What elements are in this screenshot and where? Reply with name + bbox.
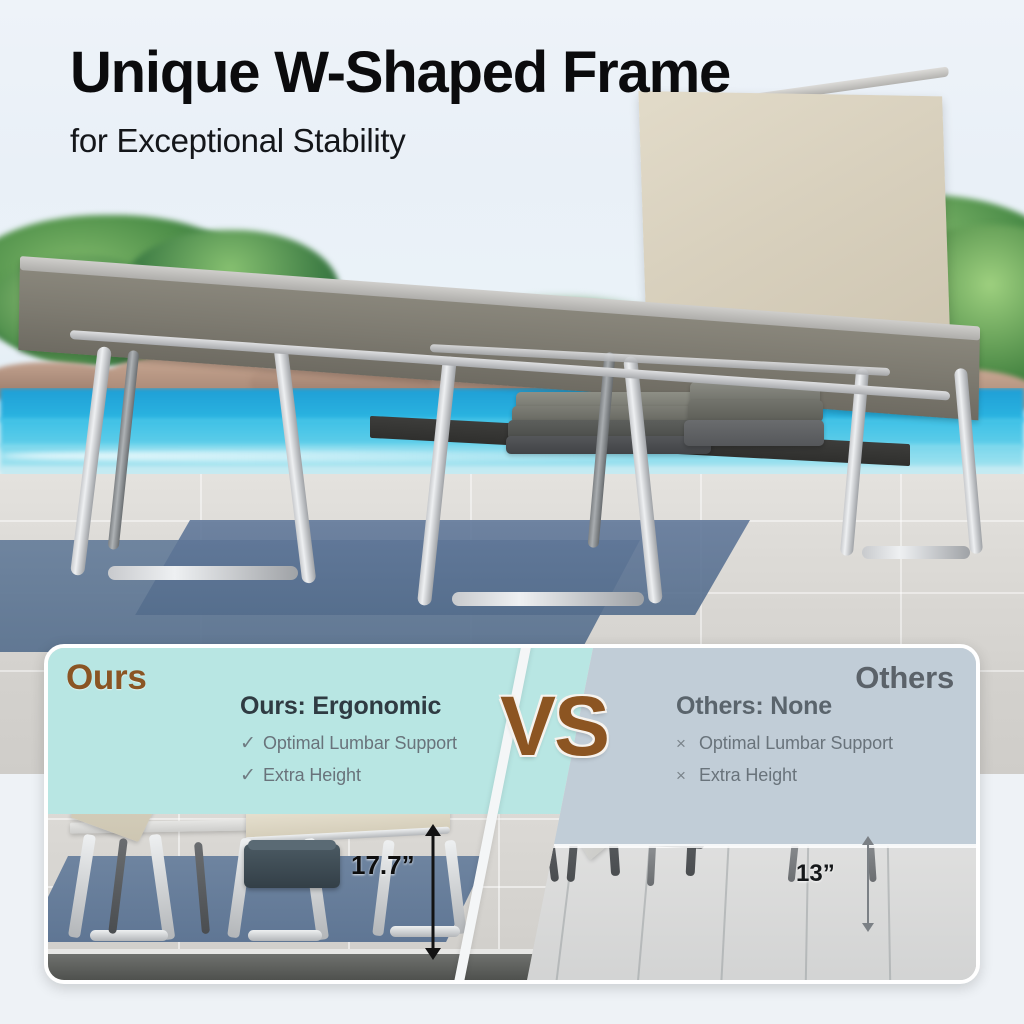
folded-towel xyxy=(688,400,823,422)
headline-block: Unique W-Shaped Frame for Exceptional St… xyxy=(70,44,730,160)
frame-foot xyxy=(862,546,970,559)
ours-height-measure: 17.7” xyxy=(403,824,463,960)
ours-feature-label: Optimal Lumbar Support xyxy=(263,733,457,754)
others-feature-label: Optimal Lumbar Support xyxy=(699,733,893,754)
frame-leg xyxy=(417,356,457,606)
ours-feature-item: ✓ Extra Height xyxy=(240,765,520,786)
comparison-panel: 13” xyxy=(44,644,980,984)
ours-feature-block: Ours: Ergonomic ✓ Optimal Lumbar Support… xyxy=(240,692,520,797)
ours-tag: Ours xyxy=(66,658,147,698)
frame-leg-rear xyxy=(108,350,140,550)
frame-foot xyxy=(108,566,298,580)
others-height-value: 13” xyxy=(796,860,835,888)
ours-height-value: 17.7” xyxy=(351,850,415,881)
storage-bag xyxy=(244,844,340,888)
check-icon: ✓ xyxy=(240,734,254,753)
frame-leg xyxy=(70,346,112,576)
ours-feature-label: Extra Height xyxy=(263,765,361,786)
page-title: Unique W-Shaped Frame xyxy=(70,44,730,102)
others-height-measure: 13” xyxy=(838,836,898,932)
others-tag: Others xyxy=(855,660,954,696)
others-feature-item: × Optimal Lumbar Support xyxy=(676,733,976,754)
comparison-card: 13” xyxy=(44,644,980,984)
folded-towel xyxy=(684,420,824,446)
vs-badge: VS xyxy=(500,684,608,768)
ours-heading: Ours: Ergonomic xyxy=(240,692,520,721)
page-subtitle: for Exceptional Stability xyxy=(70,122,730,160)
check-icon: ✓ xyxy=(240,766,254,785)
others-heading: Others: None xyxy=(676,692,976,721)
ours-bottom-strip xyxy=(48,954,568,980)
others-feature-label: Extra Height xyxy=(699,765,797,786)
frame-foot xyxy=(452,592,644,606)
cross-icon: × xyxy=(676,767,690,784)
frame-leg xyxy=(274,346,317,584)
folded-towel xyxy=(506,436,711,454)
cross-icon: × xyxy=(676,735,690,752)
others-feature-item: × Extra Height xyxy=(676,765,976,786)
product-infographic: Unique W-Shaped Frame for Exceptional St… xyxy=(0,0,1024,1024)
ours-feature-item: ✓ Optimal Lumbar Support xyxy=(240,733,520,754)
others-feature-block: Others: None × Optimal Lumbar Support × … xyxy=(676,692,976,797)
